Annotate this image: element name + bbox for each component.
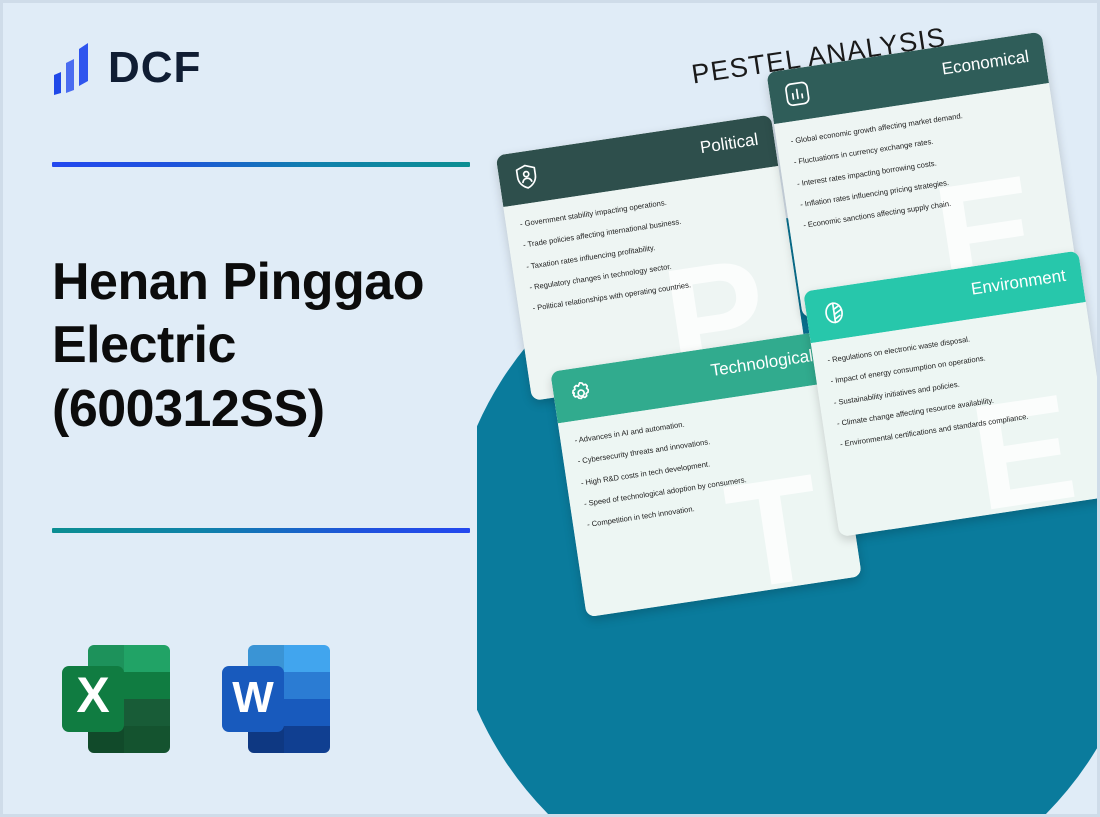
leaf-icon: [818, 296, 851, 329]
bar-chart-icon: [781, 77, 814, 110]
page-root: PESTEL ANALYSIS Political P: [0, 0, 1100, 817]
left-panel: DCF Henan Pinggao Electric (600312SS): [3, 3, 543, 817]
list-item: - Economic sanctions affecting supply ch…: [803, 185, 1051, 230]
download-icons: X W: [52, 635, 340, 763]
word-file-icon[interactable]: W: [212, 635, 340, 763]
card-title-political: Political: [699, 130, 760, 158]
page-title: Henan Pinggao Electric (600312SS): [52, 251, 492, 441]
card-body-technological: T - Advances in AI and automation. - Cyb…: [558, 382, 862, 617]
list-item: - Competition in tech innovation.: [587, 485, 835, 530]
bar-logo-icon: [50, 41, 94, 95]
card-title-environment: Environment: [970, 266, 1067, 300]
brand-lockup: DCF: [50, 41, 201, 95]
card-title-economical: Economical: [940, 47, 1030, 80]
divider-top: [52, 162, 470, 167]
divider-bottom: [52, 528, 470, 533]
bullet-list-economical: - Global economic growth affecting marke…: [790, 101, 1051, 231]
card-title-technological: Technological: [709, 346, 814, 381]
svg-text:X: X: [76, 667, 109, 723]
bullet-list-technological: - Advances in AI and automation. - Cyber…: [574, 400, 835, 530]
bullet-list-environment: - Regulations on electronic waste dispos…: [827, 320, 1088, 450]
gear-icon: [565, 377, 598, 410]
svg-text:W: W: [232, 673, 274, 722]
brand-name: DCF: [108, 46, 201, 90]
list-item: - Environmental certifications and stand…: [840, 404, 1088, 449]
card-body-environment: E - Regulations on electronic waste disp…: [811, 302, 1097, 537]
pestel-graphic: PESTEL ANALYSIS Political P: [477, 3, 1097, 817]
pestel-card-environment: Environment E - Regulations on electroni…: [803, 251, 1097, 537]
excel-file-icon[interactable]: X: [52, 635, 180, 763]
list-item: - Political relationships with operating…: [532, 268, 780, 313]
bullet-list-political: - Government stability impacting operati…: [520, 184, 781, 314]
list-item: - Speed of technological adoption by con…: [584, 463, 832, 508]
pestel-board: PESTEL ANALYSIS Political P: [477, 3, 1097, 663]
